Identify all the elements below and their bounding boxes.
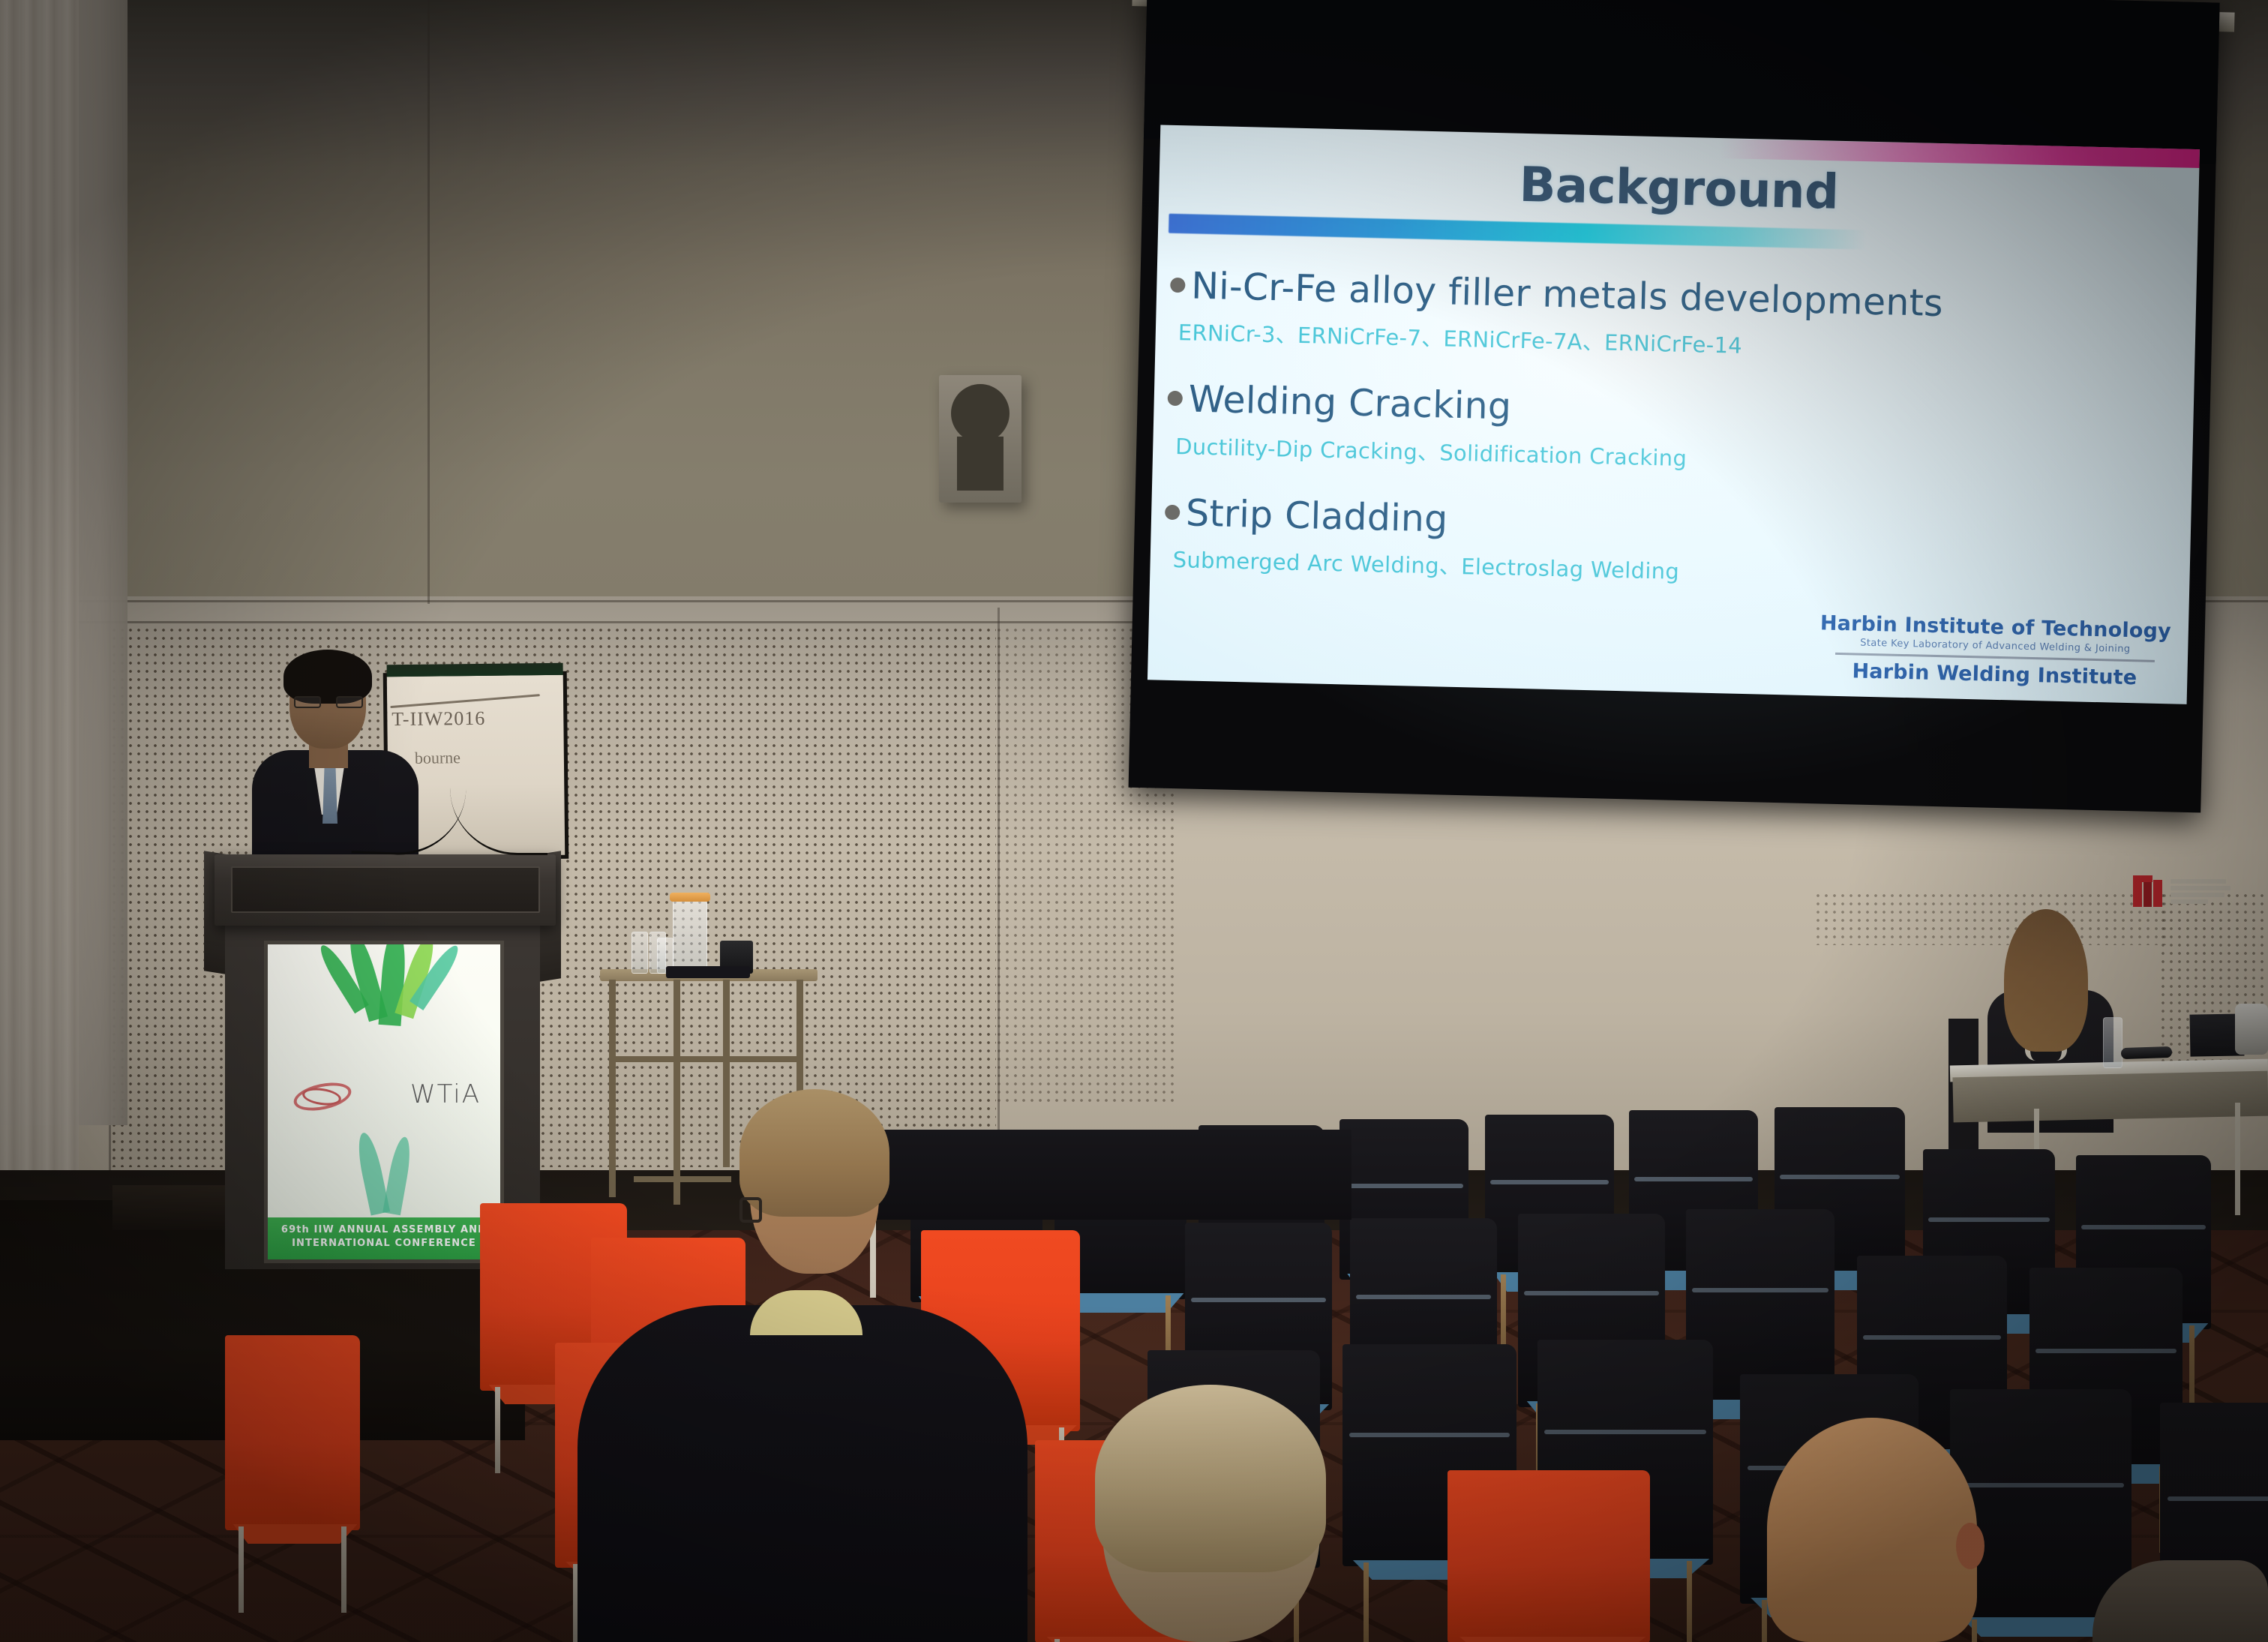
wall-curtain	[0, 0, 79, 1170]
slide-bullet-2-head-text: Welding Cracking	[1188, 378, 1512, 428]
side-table-rail-upper	[609, 1056, 802, 1062]
chair-black[interactable]	[1950, 1389, 2131, 1623]
side-table-leg-1	[609, 980, 616, 1197]
av-table-left	[841, 1130, 1351, 1220]
chairperson-table-front	[1952, 1071, 2268, 1123]
audience-member-hair	[739, 1089, 889, 1217]
lectern-banner: WTiA 69th IIW ANNUAL ASSEMBLY AND INTERN…	[264, 941, 504, 1263]
wall-seam-vertical-b	[427, 0, 430, 604]
side-table-leg-3	[723, 980, 730, 1167]
banner-strip-line-2: INTERNATIONAL CONFERENCE	[292, 1238, 476, 1249]
chairperson-hair	[2004, 909, 2088, 1052]
wtia-logo: WTiA	[410, 1079, 481, 1109]
bullet-dot-icon	[1168, 391, 1183, 406]
banner-strip-line-1: 69th IIW ANNUAL ASSEMBLY AND	[281, 1224, 487, 1235]
audience-member-2-hair	[1095, 1385, 1326, 1572]
banner-leaf-7	[382, 1136, 414, 1216]
confidence-monitor	[2235, 1004, 2268, 1055]
slide-footer-logo: Harbin Institute of Technology State Key…	[1818, 611, 2172, 690]
slide-bullet-3-head-text: Strip Cladding	[1186, 491, 1449, 540]
wall-seam-horizontal-mid	[0, 621, 1177, 623]
audience-member-3-ear	[1956, 1523, 1984, 1569]
flipchart-line-2: bourne	[415, 748, 460, 768]
presenter-glasses-icon	[294, 696, 363, 708]
mcec-mark-icon	[2133, 875, 2164, 907]
bullet-dot-icon	[1165, 505, 1180, 520]
table-pad	[666, 966, 750, 978]
audience-member-3-head	[1767, 1418, 1977, 1642]
banner-conference-strip: 69th IIW ANNUAL ASSEMBLY AND INTERNATION…	[268, 1217, 500, 1259]
carafe-lid-icon	[670, 893, 710, 902]
presenter-tie	[322, 761, 337, 824]
drinking-glass-1[interactable]	[631, 932, 648, 974]
conference-room-photo: Background Ni-Cr-Fe alloy filler metals …	[0, 0, 2268, 1642]
side-table-rail-lower	[634, 1176, 731, 1182]
presentation-slide: Background Ni-Cr-Fe alloy filler metals …	[1147, 125, 2200, 704]
flipchart-line-1: T-IIW2016	[391, 707, 485, 731]
water-carafe[interactable]	[673, 899, 707, 974]
audience-member-glasses-icon	[739, 1197, 762, 1223]
side-table-leg-2	[673, 980, 680, 1205]
iiw-logo-icon	[290, 1076, 358, 1118]
water-bottle[interactable]	[2103, 1017, 2122, 1068]
lectern-top	[214, 854, 556, 926]
flipchart-clamp	[387, 663, 563, 677]
audience-member-suit-torso	[577, 1305, 1027, 1642]
venue-logo	[2133, 872, 2245, 911]
slide-bullet-1-head-text: Ni-Cr-Fe alloy filler metals development…	[1191, 264, 1944, 325]
slide-title-underline	[1168, 214, 1866, 250]
slide-body: Ni-Cr-Fe alloy filler metals development…	[1150, 266, 2196, 598]
handheld-microphone[interactable]	[2121, 1046, 2172, 1059]
bullet-dot-icon	[1170, 278, 1185, 293]
flipchart-scribble	[390, 694, 540, 708]
chair-red[interactable]	[225, 1335, 360, 1530]
footer-welding-institute: Harbin Welding Institute	[1818, 659, 2171, 690]
chair-red[interactable]	[1447, 1470, 1650, 1642]
chairperson-table-leg-2	[2235, 1103, 2240, 1215]
wall-speaker	[939, 375, 1021, 503]
projection-screen: Background Ni-Cr-Fe alloy filler metals …	[1129, 0, 2220, 812]
lectern-top-recess	[231, 866, 540, 913]
wall-seam-vertical-c	[997, 608, 1000, 1133]
acoustic-panel-stage-right	[1815, 893, 2167, 945]
mcec-wordmark	[2170, 879, 2230, 904]
